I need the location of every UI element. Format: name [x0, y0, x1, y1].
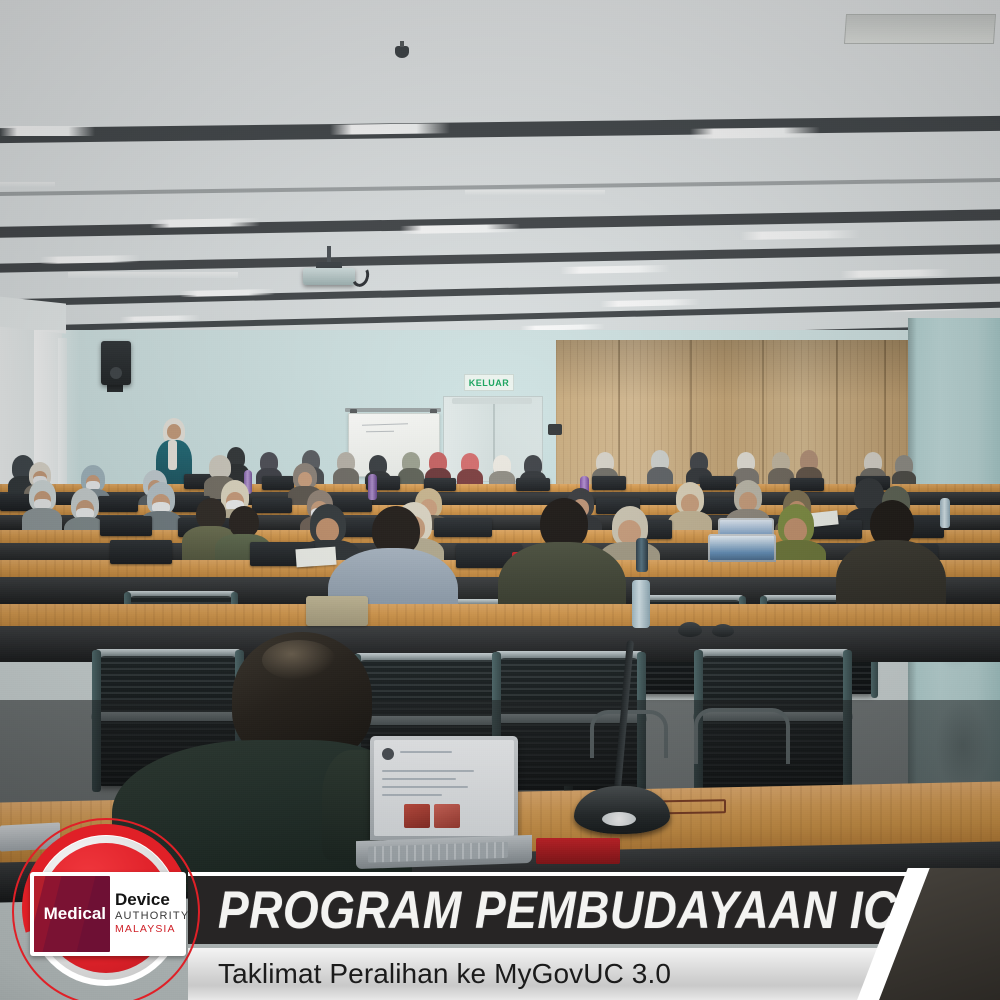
logo-word-device: Device: [115, 891, 182, 909]
exit-sign-label: KELUAR: [469, 378, 510, 388]
desk-row-1: [0, 604, 1000, 628]
projector: [303, 268, 355, 285]
logo-word-medical: Medical: [44, 904, 106, 924]
microphone-indicator: [602, 812, 636, 826]
conference-microphone[interactable]: [574, 786, 670, 834]
screen-image-thumb: [404, 804, 430, 828]
paper-bag: [306, 596, 368, 626]
wood-wall-shade: [556, 340, 908, 400]
organization-logo: Medical Device AUTHORITY MALAYSIA: [8, 814, 204, 1000]
attendee: [22, 480, 62, 536]
foreground-laptop-screen: [374, 740, 514, 836]
logo-maroon-panel: Medical: [34, 876, 110, 952]
door-closer: [452, 398, 532, 404]
laptop: [516, 478, 550, 491]
laptop-screen: [710, 536, 774, 560]
ceiling-light: [0, 126, 95, 136]
ceiling-sprinkler: [395, 46, 409, 58]
screen-image-thumb: [434, 804, 460, 828]
wall-speaker: [101, 341, 131, 385]
water-bottle: [636, 538, 648, 572]
foreground-hair-highlight: [262, 640, 336, 680]
logo-card: Medical Device AUTHORITY MALAYSIA: [30, 872, 186, 956]
logo-text-block: Device AUTHORITY MALAYSIA: [110, 876, 182, 952]
logo-word-malaysia: MALAYSIA: [115, 923, 182, 937]
ceiling-slot-diffuser: [465, 190, 605, 195]
laptop: [706, 534, 778, 566]
laptop: [100, 516, 152, 536]
presenter-scarf: [168, 440, 177, 470]
foreground-laptop-lid: [370, 736, 518, 840]
computer-mouse[interactable]: [712, 624, 734, 637]
computer-mouse[interactable]: [678, 622, 702, 637]
ceiling-light: [330, 123, 450, 134]
presenter-head: [167, 424, 181, 439]
event-banner: PROGRAM PEMBUDAYAAN ICT Taklimat Peralih…: [0, 850, 1000, 1000]
ceiling-slot-diffuser: [68, 272, 238, 278]
attendee-face: [784, 518, 807, 542]
ceiling-slot-diffuser: [0, 182, 55, 187]
screen-avatar: [382, 748, 394, 760]
whiteboard-rail: [345, 408, 441, 412]
screenshot-root: KELUAR: [0, 0, 1000, 1000]
laptop: [110, 540, 172, 564]
screen-text-line: [382, 786, 468, 788]
wall-switch-plate[interactable]: [548, 424, 562, 435]
screen-text-line: [400, 751, 452, 753]
attendee-face: [298, 472, 312, 487]
ceiling-air-vent: [844, 14, 996, 44]
tumbler: [632, 580, 650, 628]
banner-subtitle: Taklimat Peralihan ke MyGovUC 3.0: [218, 958, 671, 990]
screen-text-line: [382, 794, 442, 796]
screen-text-line: [382, 770, 474, 772]
screen-text-line: [382, 778, 456, 780]
exit-sign: KELUAR: [464, 374, 514, 391]
logo-word-authority: AUTHORITY: [115, 909, 182, 923]
ceiling-light: [690, 127, 820, 139]
banner-title-bar: PROGRAM PEMBUDAYAAN ICT: [188, 872, 1000, 944]
water-bottle: [368, 474, 377, 500]
banner-title: PROGRAM PEMBUDAYAAN ICT: [218, 884, 925, 936]
